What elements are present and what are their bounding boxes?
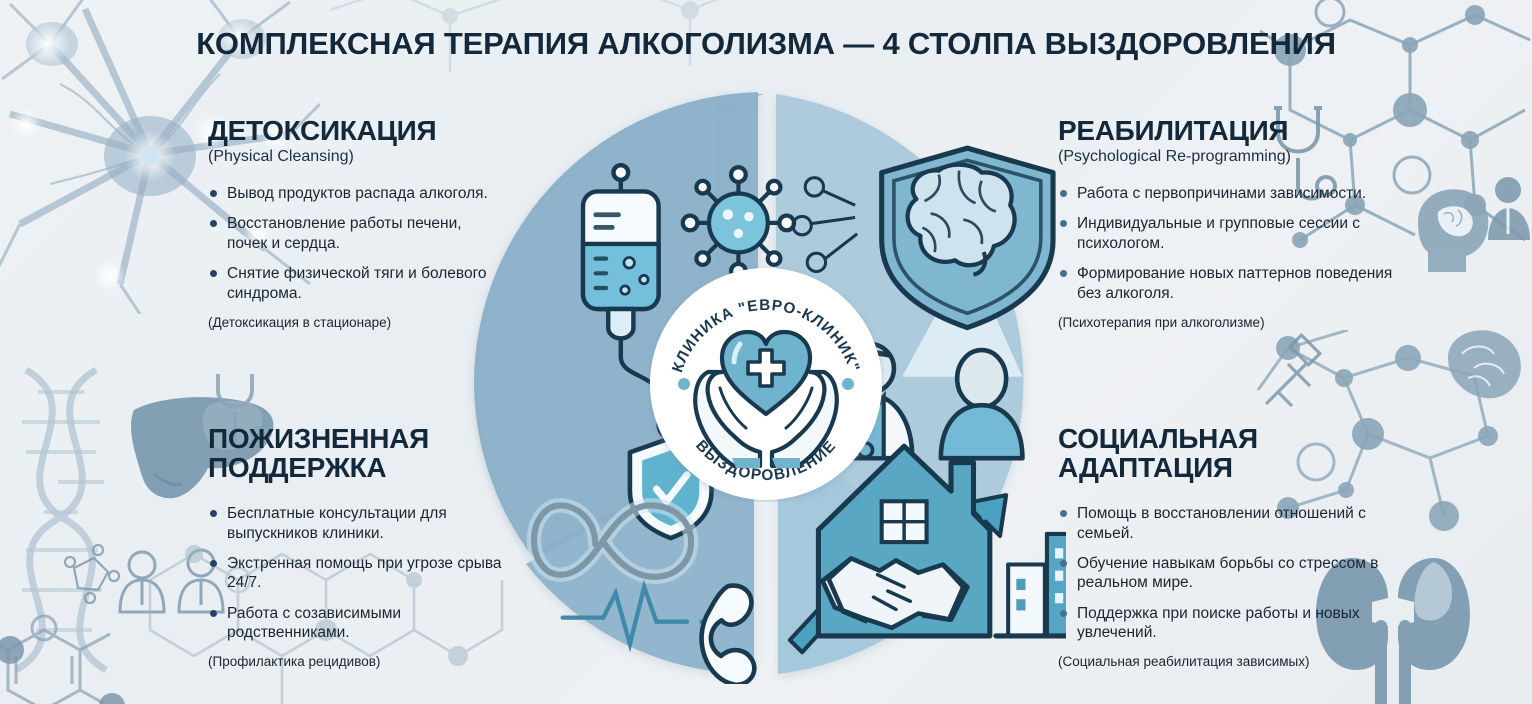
lifelong-support-heading: ПОЖИЗНЕННАЯ ПОДДЕРЖКА [208, 424, 523, 482]
rehab-note: (Психотерапия при алкоголизме) [1058, 315, 1398, 331]
badge-dot-left [678, 378, 690, 390]
rehab-heading: РЕАБИЛИТАЦИЯ [1058, 116, 1398, 146]
doctor-figures-icon [65, 545, 223, 612]
brain-icon [1418, 189, 1488, 272]
badge-dot-right [842, 378, 854, 390]
list-item: Восстановление работы печени, почек и се… [208, 214, 498, 253]
detox-bullet-list: Вывод продуктов распада алкоголя. Восста… [208, 184, 498, 303]
detox-heading: ДЕТОКСИКАЦИЯ [208, 116, 498, 146]
list-item: Работа с первопричинами зависимости. [1058, 184, 1398, 203]
list-item: Формирование новых паттернов поведения б… [1058, 264, 1398, 303]
detox-note: (Детоксикация в стационаре) [208, 315, 498, 331]
lifelong-support-note: (Профилактика рецидивов) [208, 654, 523, 670]
list-item: Экстренная помощь при угрозе срыва 24/7. [208, 554, 523, 593]
quadrant-text-detox: ДЕТОКСИКАЦИЯ (Physical Cleansing) Вывод … [208, 116, 498, 331]
list-item: Поддержка при поиске работы и новых увле… [1058, 604, 1398, 643]
social-adaptation-bullet-list: Помощь в восстановлении отношений с семь… [1058, 504, 1398, 642]
syringe-icon [1266, 335, 1320, 406]
center-logo-badge[interactable]: КЛИНИКА "ЕВРО-КЛИНИК" ВЫЗДОРОВЛЕНИЕ [648, 266, 884, 502]
list-item: Вывод продуктов распада алкоголя. [208, 184, 498, 203]
rehab-bullet-list: Работа с первопричинами зависимости. Инд… [1058, 184, 1398, 303]
quadrant-text-lifelong-support: ПОЖИЗНЕННАЯ ПОДДЕРЖКА Бесплатные консуль… [208, 424, 523, 671]
list-item: Обучение навыкам борьбы со стрессом в ре… [1058, 554, 1398, 593]
list-item: Снятие физической тяги и болевого синдро… [208, 264, 498, 303]
rehab-subtitle: (Psychological Re-programming) [1058, 148, 1398, 166]
list-item: Помощь в восстановлении отношений с семь… [1058, 504, 1398, 543]
social-adaptation-heading: СОЦИАЛЬНАЯ АДАПТАЦИЯ [1058, 424, 1398, 482]
quadrant-text-rehab: РЕАБИЛИТАЦИЯ (Psychological Re-programmi… [1058, 116, 1398, 331]
list-item: Бесплатные консультации для выпускников … [208, 504, 523, 543]
list-item: Индивидуальные и групповые сессии с псих… [1058, 214, 1398, 253]
social-adaptation-note: (Социальная реабилитация зависимых) [1058, 654, 1398, 670]
lifelong-support-bullet-list: Бесплатные консультации для выпускников … [208, 504, 523, 642]
infographic-poster: КОМПЛЕКСНАЯ ТЕРАПИЯ АЛКОГОЛИЗМА — 4 СТОЛ… [0, 0, 1532, 704]
detox-subtitle: (Physical Cleansing) [208, 148, 498, 166]
brain-icon [1448, 330, 1521, 398]
list-item: Работа с созависимыми родственниками. [208, 604, 523, 643]
quadrant-text-social-adaptation: СОЦИАЛЬНАЯ АДАПТАЦИЯ Помощь в восстановл… [1058, 424, 1398, 671]
doctor-figures-icon [1488, 177, 1530, 240]
page-title: КОМПЛЕКСНАЯ ТЕРАПИЯ АЛКОГОЛИЗМА — 4 СТОЛ… [0, 26, 1532, 62]
